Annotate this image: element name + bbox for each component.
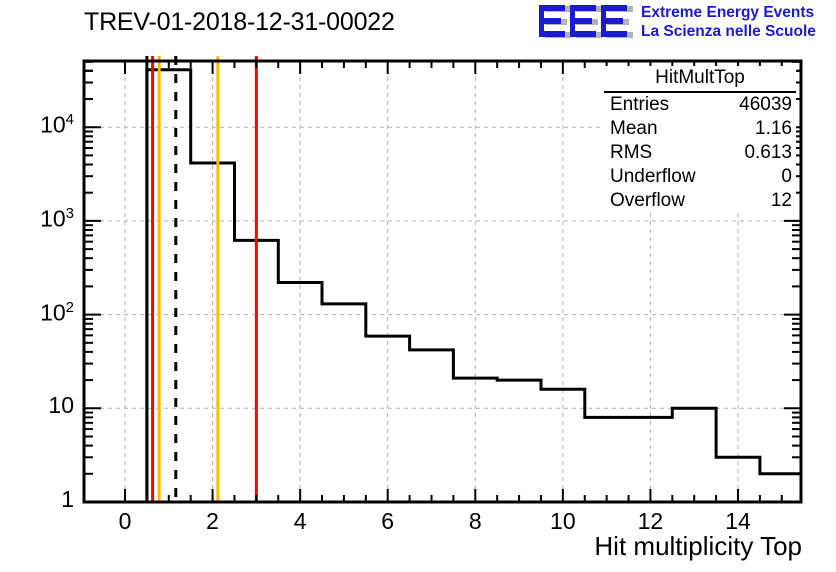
stats-value: 1.16 [755, 117, 792, 141]
x-tick-label: 0 [95, 508, 155, 535]
x-tick-label: 2 [183, 508, 243, 535]
y-tick-label: 102 [10, 299, 74, 327]
stats-box: HitMultTop Entries46039Mean1.16RMS0.613U… [604, 66, 796, 213]
stats-value: 0.613 [744, 141, 792, 165]
stats-rows: Entries46039Mean1.16RMS0.613Underflow0Ov… [604, 93, 796, 213]
stats-key: RMS [610, 141, 652, 165]
x-tick-label: 4 [270, 508, 330, 535]
plot-canvas: TREV-01-2018-12-31-00022 [0, 0, 836, 572]
x-tick-label: 6 [358, 508, 418, 535]
stats-key: Underflow [610, 165, 696, 189]
stats-row: Mean1.16 [604, 117, 796, 141]
x-tick-label: 10 [533, 508, 593, 535]
y-tick-label: 103 [10, 205, 74, 233]
marker-lines [147, 56, 256, 502]
stats-value: 46039 [739, 93, 792, 117]
y-tick-label: 10 [10, 392, 74, 419]
stats-row: Overflow12 [604, 189, 796, 213]
stats-title: HitMultTop [604, 66, 796, 93]
y-tick-label: 1 [10, 486, 74, 513]
stats-row: RMS0.613 [604, 141, 796, 165]
stats-value: 12 [771, 189, 792, 213]
stats-key: Entries [610, 93, 669, 117]
x-tick-label: 8 [445, 508, 505, 535]
stats-key: Mean [610, 117, 658, 141]
stats-value: 0 [781, 165, 792, 189]
y-tick-label: 104 [10, 111, 74, 139]
x-axis-title: Hit multiplicity Top [594, 531, 802, 562]
stats-row: Underflow0 [604, 165, 796, 189]
stats-row: Entries46039 [604, 93, 796, 117]
stats-key: Overflow [610, 189, 685, 213]
